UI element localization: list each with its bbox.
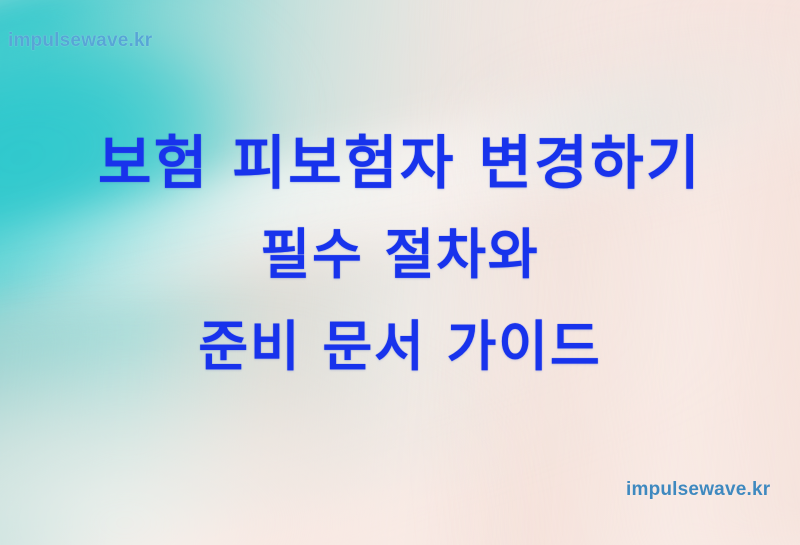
watermark-top-left: impulsewave.kr (8, 30, 152, 52)
title-line-3: 준비 문서 가이드 (14, 319, 786, 375)
thumbnail-card: impulsewave.kr 보험 피보험자 변경하기 필수 절차와 준비 문서… (0, 0, 800, 545)
title-line-2: 필수 절차와 (14, 227, 786, 283)
title-block: 보험 피보험자 변경하기 필수 절차와 준비 문서 가이드 (0, 133, 800, 376)
watermark-bottom-right: impulsewave.kr (626, 479, 770, 501)
title-line-1: 보험 피보험자 변경하기 (14, 133, 786, 193)
